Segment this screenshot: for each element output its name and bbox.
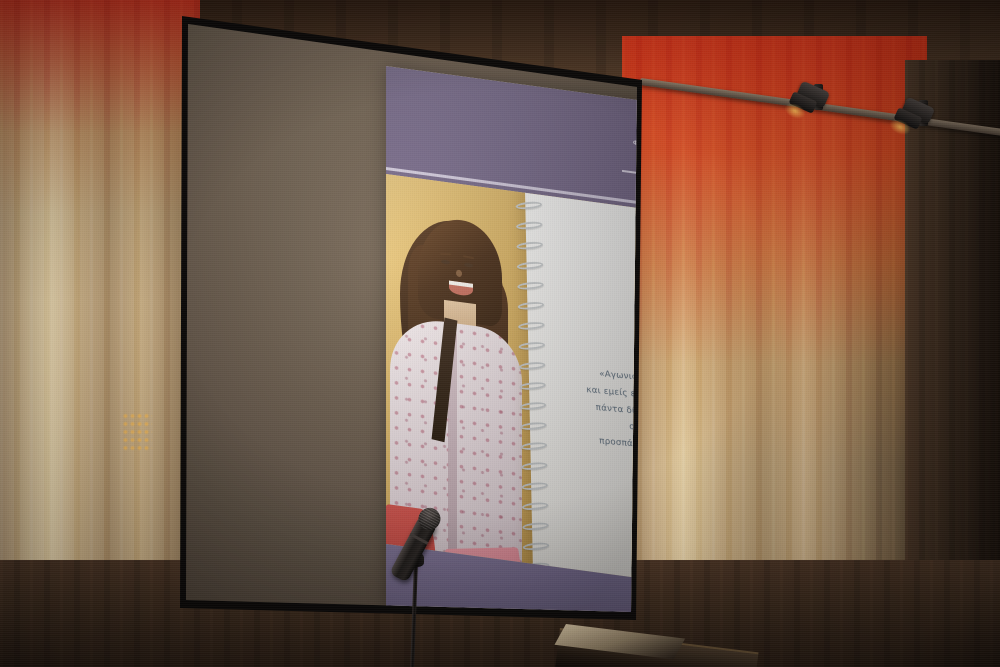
notebook-coil xyxy=(521,481,549,491)
owl-belly xyxy=(691,155,707,176)
notebook-coil xyxy=(515,221,543,231)
owl-beak xyxy=(697,159,703,165)
owl-body xyxy=(684,142,714,180)
signature-role: Διευθύντρια xyxy=(661,517,765,531)
notebook-coil xyxy=(520,441,548,451)
presentation-slide: ΙΔΙΩΤΙΚΟ ΦΡΟΝΤΙΣΤΗΡΙΟ ΑΤΤΙΚΩΝ xyxy=(386,66,786,660)
logo-line-3: ΑΤΤΙΚΩΝ xyxy=(622,146,682,161)
owl-graduation-cap xyxy=(682,135,716,144)
logo-underline xyxy=(622,170,770,192)
presentation-hall-scene: ΙΔΙΩΤΙΚΟ ΦΡΟΝΤΙΣΤΗΡΙΟ ΑΤΤΙΚΩΝ xyxy=(0,0,1000,667)
logo-wordmark: ΙΔΙΩΤΙΚΟ ΦΡΟΝΤΙΣΤΗΡΙΟ ΑΤΤΙΚΩΝ xyxy=(622,132,682,161)
owl-cap-crown xyxy=(687,131,710,139)
notebook-coil xyxy=(516,241,544,251)
owl-wing xyxy=(705,159,717,174)
school-logo: ΙΔΙΩΤΙΚΟ ΦΡΟΝΤΙΣΤΗΡΙΟ ΑΤΤΙΚΩΝ xyxy=(622,118,772,212)
owl-eye-left xyxy=(686,149,696,160)
spiral-notebook: «Αγωνιστείτε για τα όνειρά σας, και εμεί… xyxy=(525,188,786,598)
notebook-coil xyxy=(518,361,546,371)
owl-mascot-icon xyxy=(680,128,720,185)
inspirational-quote: «Αγωνιστείτε για τα όνειρά σας, και εμεί… xyxy=(571,364,780,466)
quote-line-5: προσπάθειες και στα όνειρά σας.» xyxy=(575,431,781,465)
microphone-ring xyxy=(409,533,428,545)
logo-letter-badges: G R M xyxy=(722,157,775,179)
slide-content-area: «Αγωνιστείτε για τα όνειρά σας, και εμεί… xyxy=(386,174,786,598)
notebook-coil xyxy=(521,501,549,511)
notebook-coil xyxy=(516,261,544,271)
owl-eye-right xyxy=(698,150,708,161)
notebook-coil xyxy=(515,201,543,211)
notebook-coil xyxy=(519,401,547,411)
notebook-coil xyxy=(519,421,547,431)
notebook-coil xyxy=(522,522,550,532)
notebook-coil xyxy=(522,542,550,552)
notebook-coil xyxy=(519,381,547,391)
signature-name: Γεωργία Γούλα-Μαυρίτσα xyxy=(660,505,764,522)
notebook-coil xyxy=(517,321,545,331)
logo-badge-m: M xyxy=(760,162,775,179)
notebook-coil xyxy=(520,461,548,471)
photo-nose xyxy=(456,269,462,277)
notebook-coil xyxy=(517,301,545,311)
projection-screen: ΙΔΙΩΤΙΚΟ ΦΡΟΝΤΙΣΤΗΡΙΟ ΑΤΤΙΚΩΝ xyxy=(0,0,1000,667)
logo-badge-r: R xyxy=(741,160,756,177)
notebook-coil xyxy=(517,281,545,291)
logo-badge-g: G xyxy=(722,157,737,174)
owl-pointer-stick xyxy=(703,136,713,165)
quote-signature: Γεωργία Γούλα-Μαυρίτσα Διευθύντρια xyxy=(660,505,765,531)
notebook-coil xyxy=(518,341,546,351)
